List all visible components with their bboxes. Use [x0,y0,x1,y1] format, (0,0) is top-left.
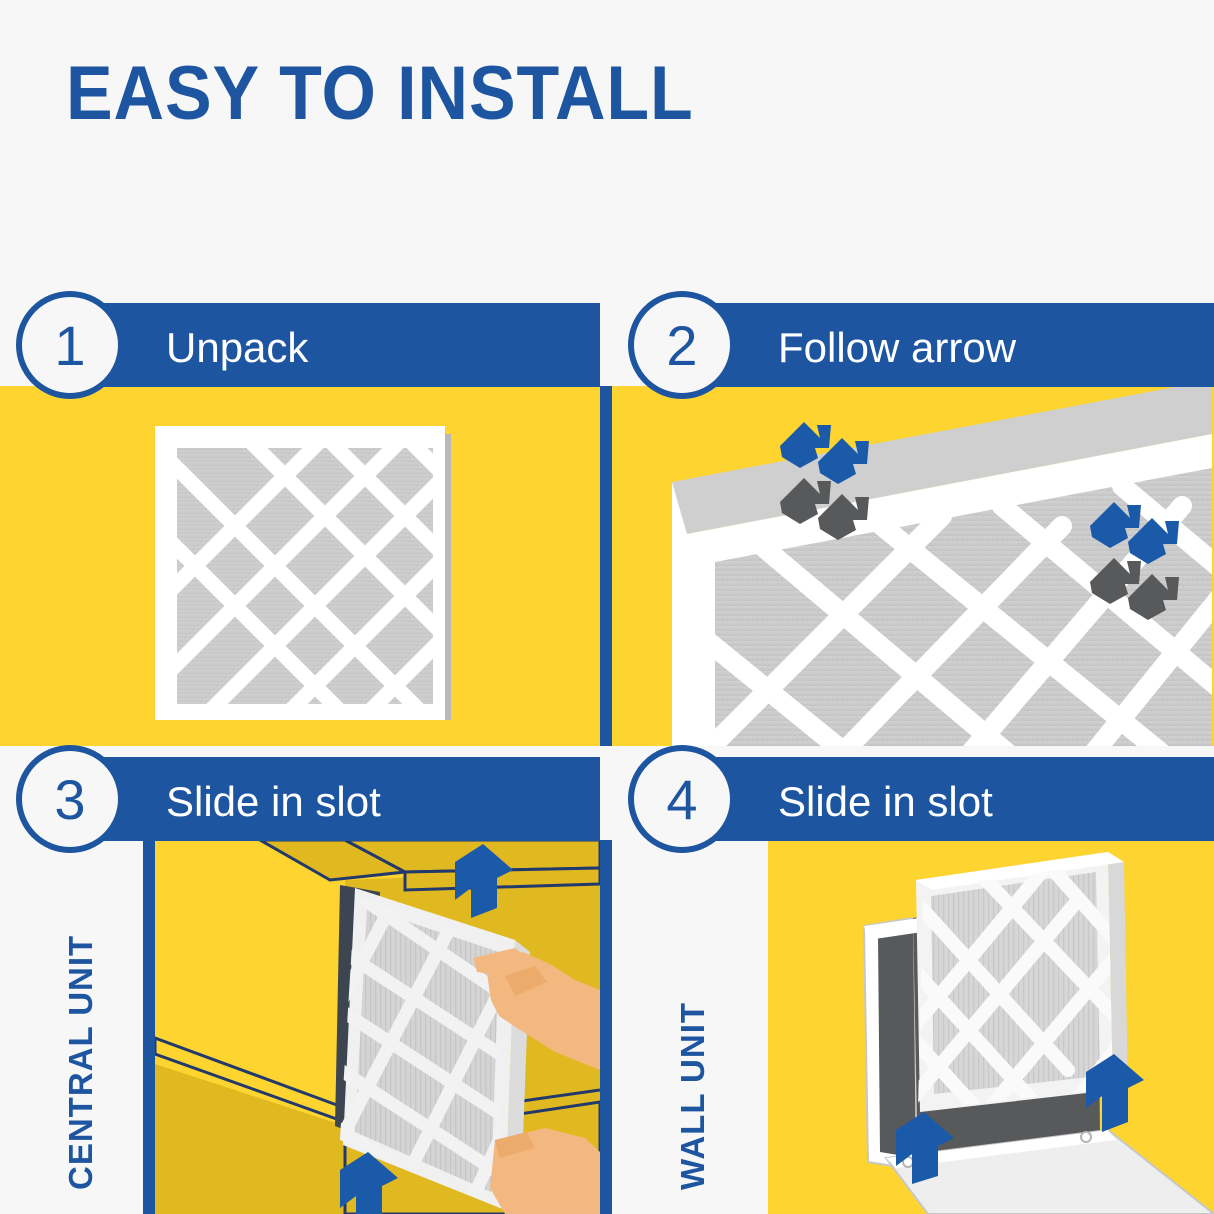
step-2-label: Follow arrow [778,327,1016,369]
step-1-label: Unpack [166,327,308,369]
divider-vertical-bottom [600,840,612,1214]
step-2-number-badge: 2 [628,291,736,399]
step-4-number-badge: 4 [628,745,736,853]
step-3-side-label: CENTRAL UNIT [62,935,100,1190]
wall-unit-install-icon [768,840,1214,1214]
step-3-number-badge: 3 [16,745,124,853]
central-unit-install-icon [155,840,600,1214]
step-2-number: 2 [666,313,697,378]
step-4-number: 4 [666,767,697,832]
step-4-label: Slide in slot [778,781,993,823]
panel-4-illustration-area [768,840,1214,1214]
panel-1-illustration-area [0,386,600,746]
panel-3-illustration-area [155,840,600,1214]
step-1-number: 1 [54,313,85,378]
step-3-number: 3 [54,767,85,832]
step-4-side-label: WALL UNIT [674,1002,712,1190]
page-title: EASY TO INSTALL [66,56,694,132]
infographic-root: EASY TO INSTALL [0,0,1214,1214]
hand-lower [490,1128,600,1214]
step-1-header-bar [66,303,600,387]
divider-vertical-top [600,386,612,746]
step-3-label: Slide in slot [166,781,381,823]
air-filter-front-icon [0,386,600,746]
step-1-number-badge: 1 [16,291,124,399]
divider-row3-left-edge [143,840,155,1214]
tilted-air-filter-icon [612,386,1214,746]
panel-2-illustration-area [612,386,1214,746]
